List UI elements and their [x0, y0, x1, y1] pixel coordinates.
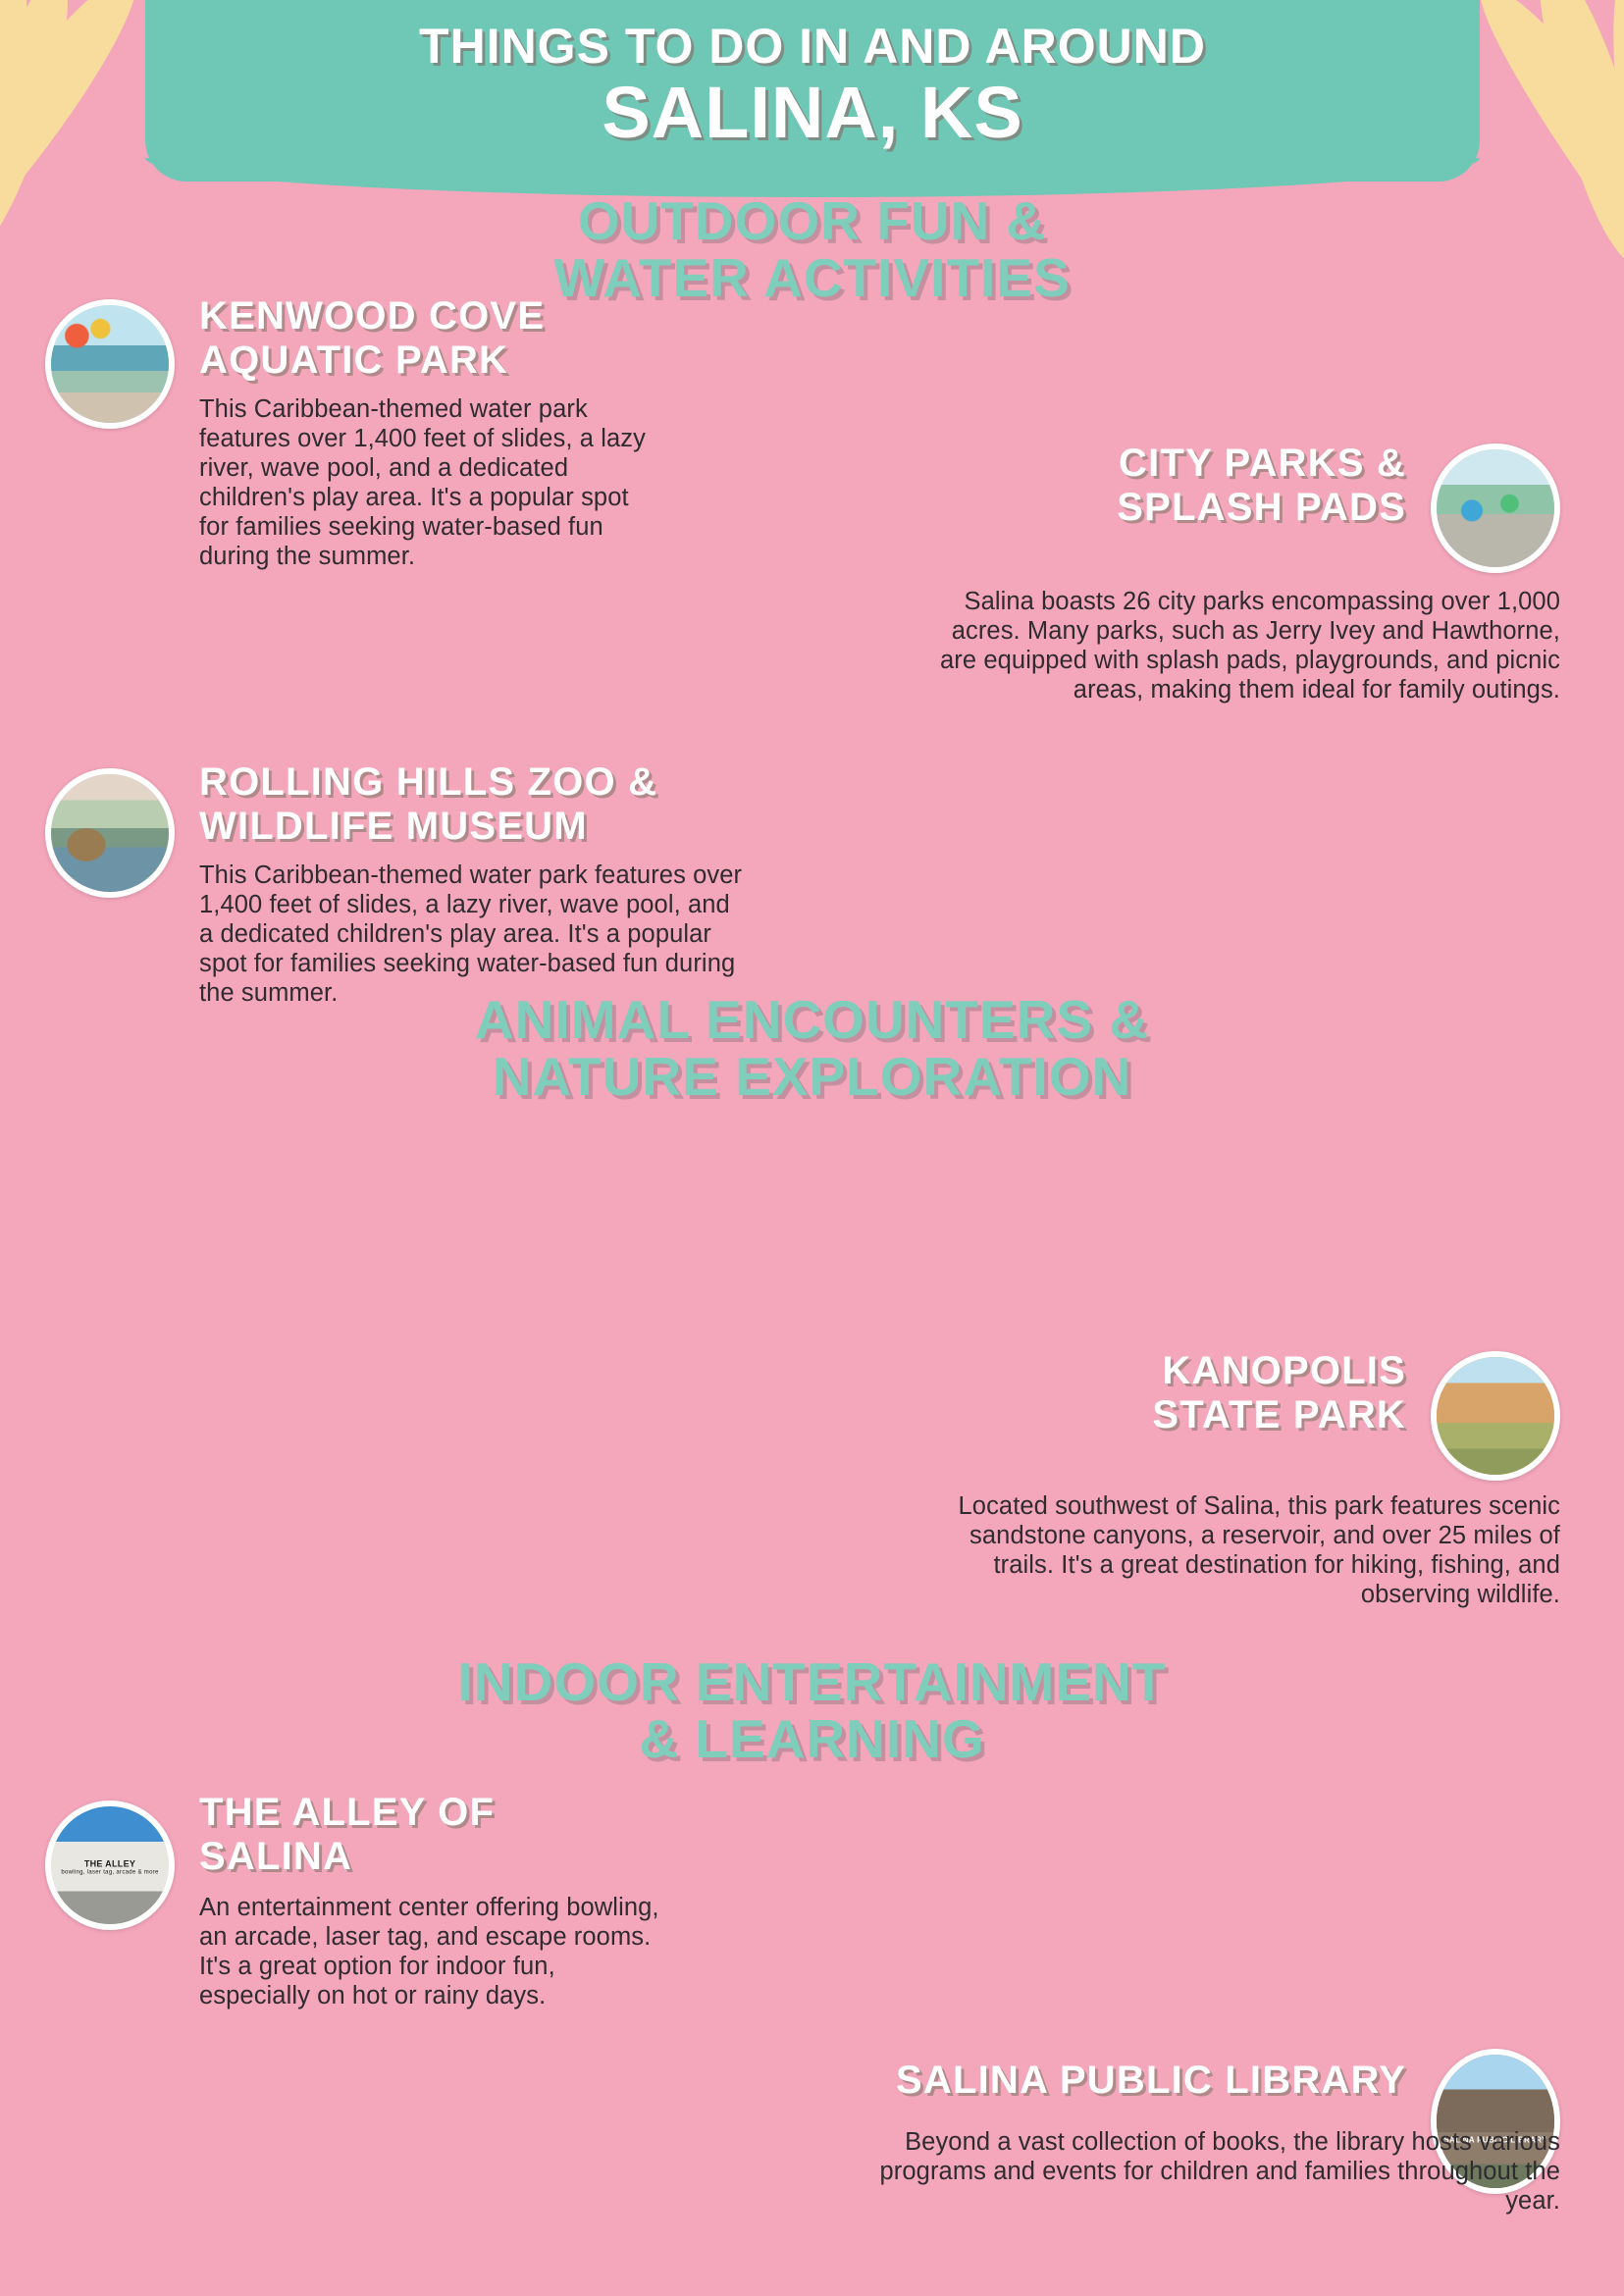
entry-title-line2: AQUATIC PARK — [199, 339, 660, 383]
leaf-shape-icon — [1456, 0, 1624, 380]
entry-title-line1: SALINA PUBLIC LIBRARY — [660, 2059, 1406, 2103]
rolling-hills-zoo-pavilion-photo — [51, 774, 169, 892]
section-heading-line1: INDOOR ENTERTAINMENT — [0, 1653, 1624, 1710]
section-heading-outdoor-fun: OUTDOOR FUN & WATER ACTIVITIES — [0, 192, 1624, 307]
the-alley-sign-sub: bowling, laser tag, arcade & more — [61, 1869, 158, 1876]
page-title-line1: THINGS TO DO IN AND AROUND — [145, 22, 1480, 71]
page-title-line2: SALINA, KS — [145, 77, 1480, 149]
section-heading-indoor-entertainment: INDOOR ENTERTAINMENT & LEARNING — [0, 1653, 1624, 1768]
kenwood-cove-waterslides-photo — [51, 305, 169, 423]
entry-body-text: Beyond a vast collection of books, the l… — [854, 2127, 1560, 2216]
entry-title-line1: THE ALLEY OF — [199, 1791, 660, 1835]
entry-title-line1: CITY PARKS & — [857, 442, 1406, 486]
entry-title-line1: KENWOOD COVE — [199, 294, 660, 339]
entry-title-line1: KANOPOLIS — [945, 1349, 1406, 1393]
entry-body-text: Salina boasts 26 city parks encompassing… — [913, 587, 1560, 704]
section-heading-line2: NATURE EXPLORATION — [0, 1048, 1624, 1105]
entry-body-text: An entertainment center offering bowling… — [199, 1893, 660, 2010]
entry-body-text: Located southwest of Salina, this park f… — [913, 1491, 1560, 1609]
entry-title-line1: ROLLING HILLS ZOO & — [199, 760, 749, 805]
entry-title-line2: STATE PARK — [945, 1393, 1406, 1437]
entry-thumbnail-kanopolis — [1431, 1351, 1560, 1481]
entry-body-text: This Caribbean-themed water park feature… — [199, 861, 749, 1008]
the-alley-sign-text: THE ALLEY bowling, laser tag, arcade & m… — [61, 1859, 158, 1876]
entry-title-line2: SPLASH PADS — [857, 486, 1406, 530]
kanopolis-sandstone-canyon-photo — [1437, 1357, 1554, 1475]
entry-title-line2: SALINA — [199, 1835, 660, 1879]
entry-thumbnail-kenwood-cove — [45, 299, 175, 429]
splash-pad-playground-photo — [1437, 449, 1554, 567]
header-banner: THINGS TO DO IN AND AROUND SALINA, KS — [145, 0, 1480, 182]
entry-body-text: This Caribbean-themed water park feature… — [199, 394, 660, 571]
section-heading-line1: OUTDOOR FUN & — [0, 192, 1624, 249]
entry-thumbnail-city-parks — [1431, 444, 1560, 573]
entry-title-line2: WILDLIFE MUSEUM — [199, 805, 749, 849]
entry-thumbnail-the-alley: THE ALLEY bowling, laser tag, arcade & m… — [45, 1800, 175, 1930]
section-heading-line2: & LEARNING — [0, 1710, 1624, 1767]
the-alley-sign-main: THE ALLEY — [84, 1859, 135, 1869]
entry-thumbnail-rolling-hills-zoo — [45, 768, 175, 898]
section-heading-animal-encounters: ANIMAL ENCOUNTERS & NATURE EXPLORATION — [0, 991, 1624, 1106]
